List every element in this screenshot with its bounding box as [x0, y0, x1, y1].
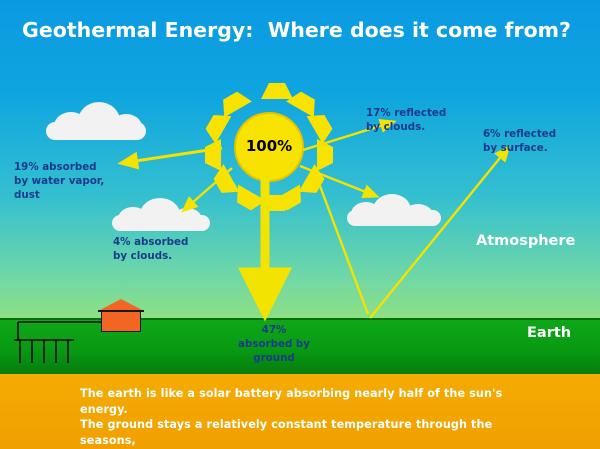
earth-label: Earth: [527, 325, 571, 341]
diagram-canvas: 100%: [0, 0, 600, 449]
label-reflected-clouds: 17% reflected by clouds.: [366, 106, 476, 134]
label-absorbed-clouds: 4% absorbed by clouds.: [113, 235, 233, 263]
arrow-6-percent-down: [320, 186, 368, 314]
arrow-4-percent: [184, 168, 232, 210]
label-reflected-surface: 6% reflected by surface.: [483, 127, 583, 155]
atmosphere-label: Atmosphere: [476, 233, 575, 249]
page-title: Geothermal Energy: Where does it come fr…: [22, 18, 571, 42]
arrow-19-percent: [122, 148, 222, 163]
label-absorbed-ground: 47% absorbed by ground: [219, 323, 329, 365]
arrow-to-right-cloud: [300, 166, 376, 196]
label-absorbed-water-vapor: 19% absorbed by water vapor, dust: [14, 160, 134, 202]
caption-text: The earth is like a solar battery absorb…: [80, 386, 550, 449]
ground-loop-piping: [14, 322, 101, 363]
